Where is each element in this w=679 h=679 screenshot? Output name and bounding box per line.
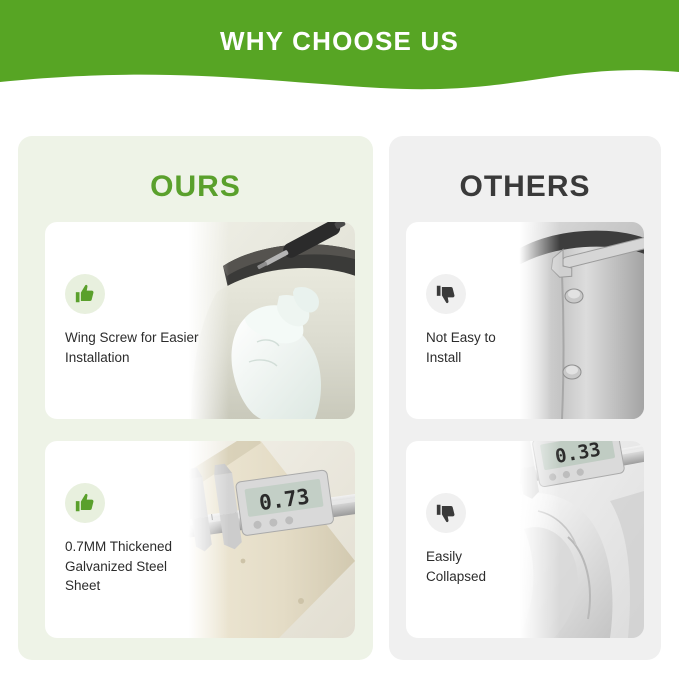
why-choose-us-infographic: WHY CHOOSE US OURS xyxy=(0,0,679,679)
card-label-ours-1: Wing Screw for Easier Installation xyxy=(65,328,199,367)
card-label-others-1: Not Easy to Install xyxy=(426,328,524,367)
card-image-wrench-bolt xyxy=(514,222,644,419)
card-image-caliper-others: 0.33 xyxy=(514,441,644,638)
thumbs-down-icon xyxy=(426,274,466,314)
card-text-pane-ours-1: Wing Screw for Easier Installation xyxy=(45,222,199,419)
card-image-caliper-ours: 0.73 xyxy=(183,441,355,638)
card-text-pane-others-1: Not Easy to Install xyxy=(406,222,524,419)
card-ours-wing-screw: Wing Screw for Easier Installation xyxy=(45,222,355,419)
card-text-pane-others-2: Easily Collapsed xyxy=(406,441,524,638)
thumbs-up-icon xyxy=(65,483,105,523)
page-title: WHY CHOOSE US xyxy=(0,26,679,57)
card-others-easily-collapsed: 0.33 Easily Collapsed xyxy=(406,441,644,638)
card-text-pane-ours-2: 0.7MM Thickened Galvanized Steel Sheet xyxy=(45,441,199,638)
card-label-ours-2: 0.7MM Thickened Galvanized Steel Sheet xyxy=(65,537,199,596)
thumbs-down-icon xyxy=(426,493,466,533)
column-heading-others: OTHERS xyxy=(389,170,661,204)
card-image-wing-screw xyxy=(183,222,355,419)
thumbs-up-icon xyxy=(65,274,105,314)
header-banner: WHY CHOOSE US xyxy=(0,0,679,100)
card-others-not-easy-install: Not Easy to Install xyxy=(406,222,644,419)
card-label-others-2: Easily Collapsed xyxy=(426,547,524,586)
column-heading-ours: OURS xyxy=(18,170,373,204)
card-ours-steel-thickness: 0.73 0.7MM Thickened Galvanized Steel Sh… xyxy=(45,441,355,638)
